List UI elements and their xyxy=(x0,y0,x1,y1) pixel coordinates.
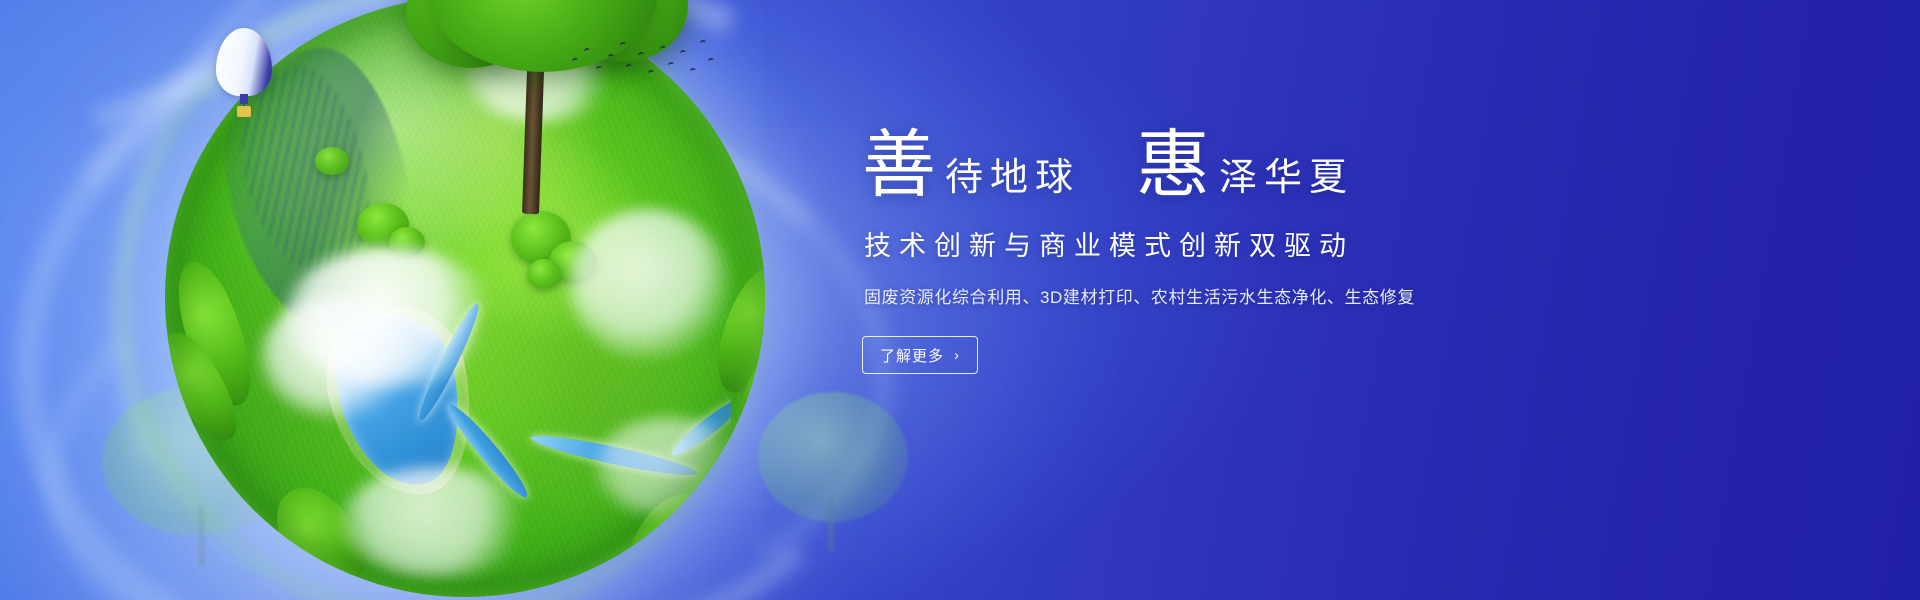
bird-icon xyxy=(708,57,715,63)
bird-icon xyxy=(690,67,697,73)
headline-part1-primary: 善 xyxy=(862,128,937,202)
bird-icon xyxy=(596,65,603,71)
hot-air-balloon-icon xyxy=(216,28,272,132)
bird-icon xyxy=(572,57,579,63)
tree-trunk xyxy=(828,497,834,552)
hero-content: 善 待地球 惠 泽华夏 技术创新与商业模式创新双驱动 固废资源化综合利用、3D建… xyxy=(862,128,1862,374)
bird-icon xyxy=(626,63,633,69)
description: 固废资源化综合利用、3D建材打印、农村生活污水生态净化、生态修复 xyxy=(864,283,1862,308)
headline-part1-secondary: 待地球 xyxy=(945,158,1080,196)
headline-part2-secondary: 泽华夏 xyxy=(1219,158,1354,196)
bird-icon xyxy=(584,47,591,53)
bird-icon xyxy=(648,69,655,75)
bird-icon xyxy=(638,51,645,57)
headline: 善 待地球 惠 泽华夏 xyxy=(862,128,1862,202)
balloon-basket xyxy=(237,106,251,117)
globe-illustration xyxy=(130,0,800,600)
background-tree-right xyxy=(758,392,908,522)
balloon-envelope xyxy=(216,28,272,96)
bird-icon xyxy=(680,49,687,55)
learn-more-button[interactable]: 了解更多 › xyxy=(862,336,978,374)
birds-flock xyxy=(568,36,718,88)
bird-icon xyxy=(608,53,615,59)
learn-more-label: 了解更多 xyxy=(880,345,944,366)
headline-part2-primary: 惠 xyxy=(1136,128,1211,202)
bird-icon xyxy=(668,61,675,67)
bird-icon xyxy=(700,39,707,45)
hero-banner: 善 待地球 惠 泽华夏 技术创新与商业模式创新双驱动 固废资源化综合利用、3D建… xyxy=(0,0,1920,600)
bird-icon xyxy=(620,41,627,47)
subtitle: 技术创新与商业模式创新双驱动 xyxy=(864,224,1862,263)
bird-icon xyxy=(660,45,667,51)
chevron-right-icon: › xyxy=(954,348,960,363)
